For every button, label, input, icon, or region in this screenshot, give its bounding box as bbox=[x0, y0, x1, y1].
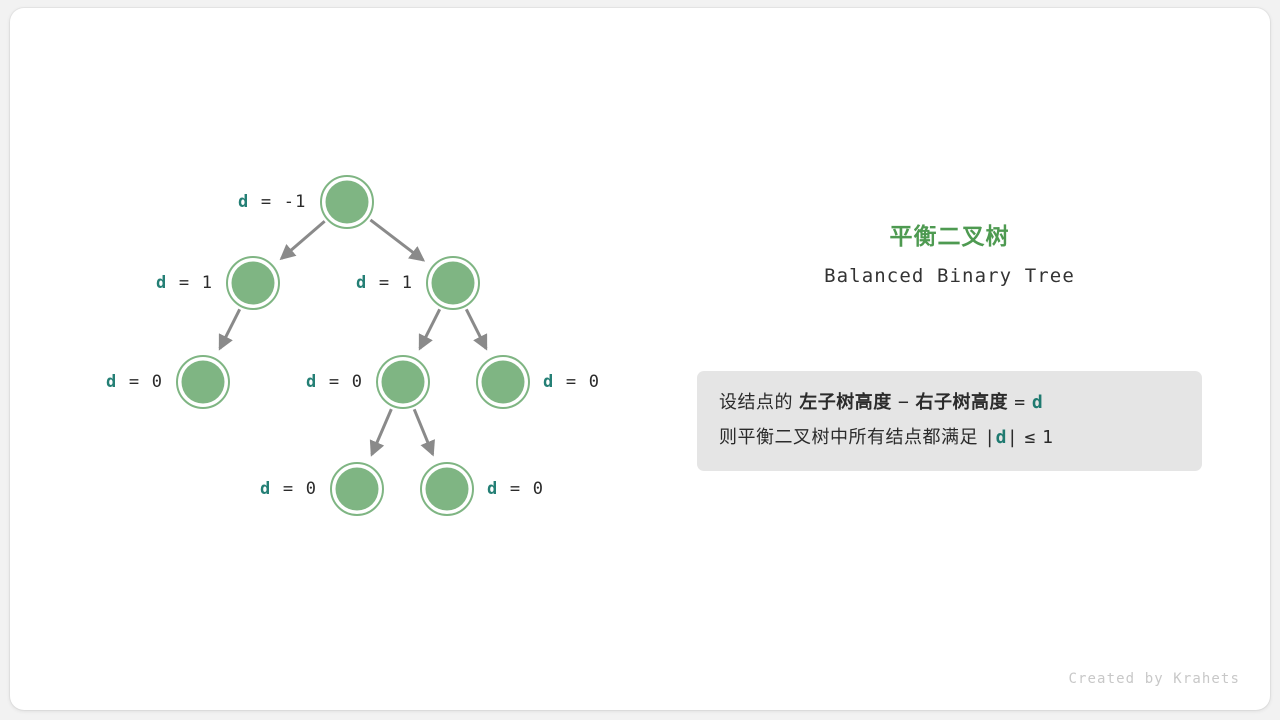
node-fill bbox=[382, 361, 425, 404]
tree-edge bbox=[372, 409, 392, 454]
term-right-subtree-height: 右子树高度 bbox=[916, 392, 1009, 413]
tree-edge bbox=[414, 409, 433, 454]
node-fill bbox=[182, 361, 225, 404]
node-label-value: = 1 bbox=[367, 273, 413, 293]
node-label-variable: d bbox=[356, 273, 367, 293]
definition-box: 设结点的 左子树高度 − 右子树高度 = d 则平衡二叉树中所有结点都满足 |d… bbox=[697, 371, 1202, 471]
credit-text: Created by Krahets bbox=[1068, 671, 1240, 687]
tree-edge bbox=[220, 309, 240, 348]
node-label-value: = 0 bbox=[317, 372, 363, 392]
node-label-value: = 0 bbox=[498, 479, 544, 499]
node-balance-label: d = 0 bbox=[543, 372, 600, 392]
node-label-value: = 0 bbox=[117, 372, 163, 392]
condition-prefix: 则平衡二叉树中所有结点都满足 bbox=[719, 427, 978, 448]
title-panel: 平衡二叉树 Balanced Binary Tree bbox=[697, 222, 1202, 289]
tree-edge bbox=[420, 309, 440, 348]
node-label-value: = 1 bbox=[167, 273, 213, 293]
tree-node bbox=[331, 463, 383, 515]
node-label-variable: d bbox=[260, 479, 271, 499]
equals-sign: = bbox=[1014, 392, 1025, 413]
node-fill bbox=[336, 468, 379, 511]
definition-line-1: 设结点的 左子树高度 − 右子树高度 = d bbox=[719, 385, 1180, 420]
node-balance-label: d = 0 bbox=[260, 479, 317, 499]
node-balance-label: d = 0 bbox=[487, 479, 544, 499]
node-label-variable: d bbox=[306, 372, 317, 392]
tree-node bbox=[227, 257, 279, 309]
node-label-variable: d bbox=[106, 372, 117, 392]
node-label-variable: d bbox=[156, 273, 167, 293]
node-fill bbox=[432, 262, 475, 305]
binary-tree-graphic bbox=[0, 0, 1280, 720]
tree-edge bbox=[466, 309, 486, 348]
node-fill bbox=[482, 361, 525, 404]
node-fill bbox=[326, 181, 369, 224]
node-balance-label: d = 1 bbox=[356, 273, 413, 293]
node-label-variable: d bbox=[238, 192, 249, 212]
minus-sign: − bbox=[898, 392, 909, 413]
bound-value: 1 bbox=[1042, 427, 1053, 448]
tree-node bbox=[427, 257, 479, 309]
abs-bar-open: | bbox=[984, 427, 995, 448]
tree-node bbox=[177, 356, 229, 408]
term-left-subtree-height: 左子树高度 bbox=[799, 392, 892, 413]
node-label-variable: d bbox=[543, 372, 554, 392]
tree-nodes bbox=[177, 176, 529, 515]
node-label-value: = -1 bbox=[249, 192, 306, 212]
tree-node bbox=[377, 356, 429, 408]
tree-edge bbox=[370, 220, 423, 260]
abs-bar-close: | bbox=[1007, 427, 1018, 448]
tree-edges bbox=[220, 220, 486, 455]
tree-edge bbox=[281, 221, 324, 258]
node-balance-label: d = 1 bbox=[156, 273, 213, 293]
node-fill bbox=[232, 262, 275, 305]
definition-prefix: 设结点的 bbox=[719, 392, 793, 413]
tree-node bbox=[321, 176, 373, 228]
tree-node bbox=[421, 463, 473, 515]
node-balance-label: d = 0 bbox=[106, 372, 163, 392]
node-balance-label: d = 0 bbox=[306, 372, 363, 392]
node-label-value: = 0 bbox=[271, 479, 317, 499]
variable-d-abs: d bbox=[996, 427, 1007, 448]
node-label-value: = 0 bbox=[554, 372, 600, 392]
diagram-canvas: d = -1d = 1d = 1d = 0d = 0d = 0d = 0d = … bbox=[0, 0, 1280, 720]
page-title: 平衡二叉树 bbox=[697, 222, 1202, 252]
less-equal-operator: ≤ bbox=[1025, 427, 1036, 448]
node-fill bbox=[426, 468, 469, 511]
node-balance-label: d = -1 bbox=[238, 192, 307, 212]
variable-d: d bbox=[1032, 392, 1043, 413]
node-label-variable: d bbox=[487, 479, 498, 499]
page-subtitle: Balanced Binary Tree bbox=[697, 263, 1202, 289]
definition-line-2: 则平衡二叉树中所有结点都满足 |d| ≤ 1 bbox=[719, 420, 1180, 455]
tree-node bbox=[477, 356, 529, 408]
